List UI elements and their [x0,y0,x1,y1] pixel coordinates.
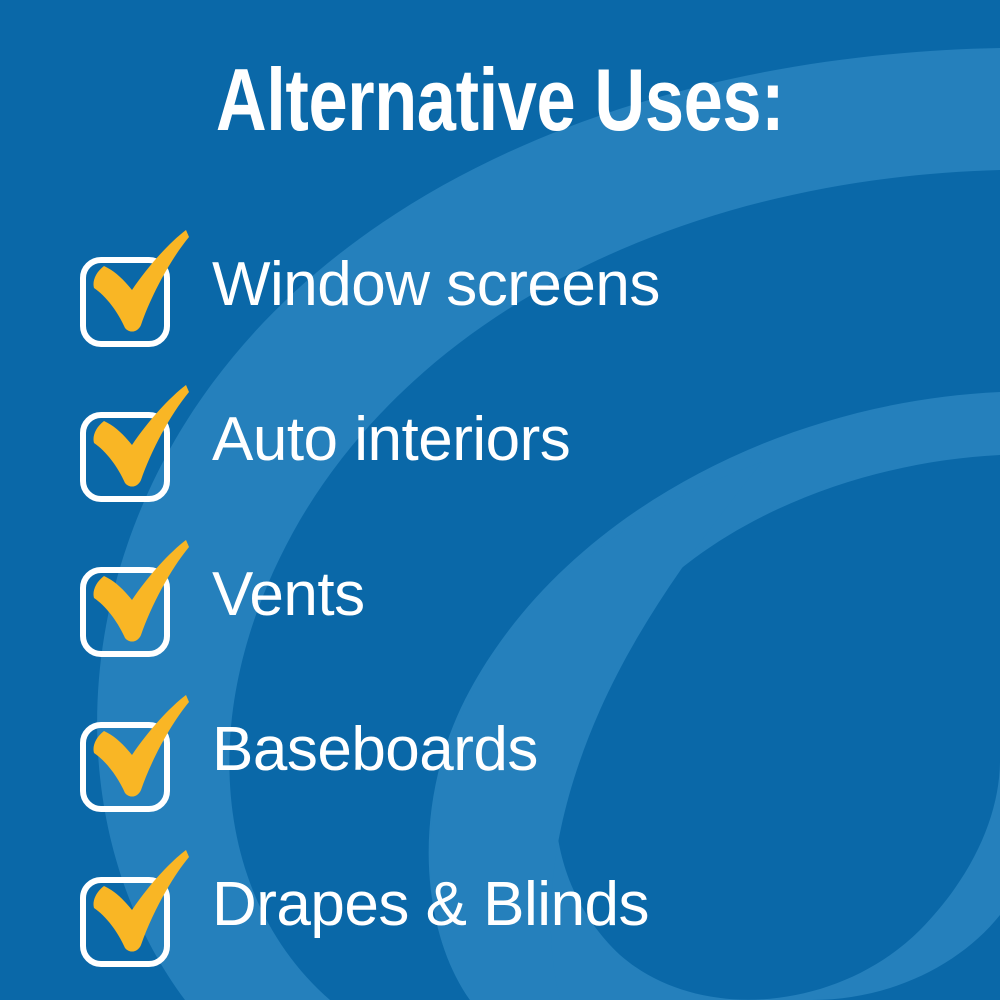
poster-canvas: Alternative Uses: Window screens [0,0,1000,1000]
checked-checkbox-icon[interactable] [78,538,190,650]
list-item[interactable]: Window screens [0,206,1000,361]
list-item[interactable]: Auto interiors [0,361,1000,516]
checked-checkbox-icon[interactable] [78,383,190,495]
list-item-label: Window screens [212,252,660,318]
list-item-label: Vents [212,562,365,628]
checked-checkbox-icon[interactable] [78,848,190,960]
list-item-label: Drapes & Blinds [212,872,649,938]
page-title: Alternative Uses: [100,52,900,148]
checked-checkbox-icon[interactable] [78,693,190,805]
list-item[interactable]: Vents [0,516,1000,671]
list-item-label: Auto interiors [212,407,570,473]
checked-checkbox-icon[interactable] [78,228,190,340]
list-item[interactable]: Baseboards [0,671,1000,826]
list-item[interactable]: Drapes & Blinds [0,826,1000,981]
alternative-uses-checklist: Window screens Auto interiors [0,206,1000,981]
list-item-label: Baseboards [212,717,538,783]
